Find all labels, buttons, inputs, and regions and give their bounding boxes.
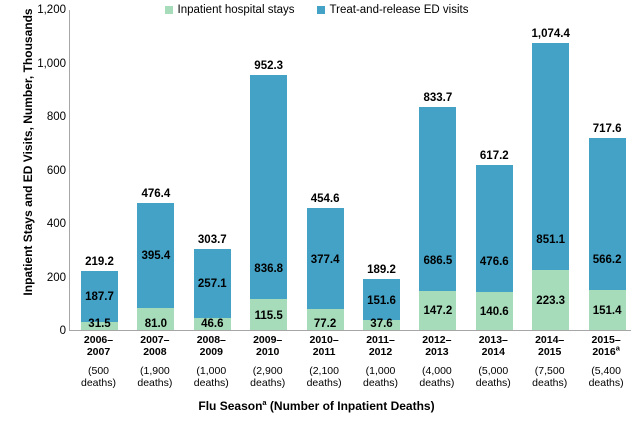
bar-segment-value: 851.1	[532, 234, 569, 246]
inpatient-deaths-unit: deaths)	[297, 377, 352, 389]
bar-segment-inpatient-stays[interactable]: 115.5	[250, 299, 287, 330]
bar-segment-value: 115.5	[250, 310, 287, 322]
y-axis-tick-label: 0	[22, 325, 66, 337]
bar-segment-inpatient-stays[interactable]: 77.2	[307, 309, 344, 330]
flu-season-label: 2011–2012	[353, 334, 408, 358]
table-row[interactable]: 566.2151.4717.6	[589, 138, 626, 330]
inpatient-deaths-count: (5,000	[466, 365, 521, 377]
bar-total-value: 476.4	[124, 188, 187, 200]
bar-segment-inpatient-stays[interactable]: 81.0	[137, 308, 174, 330]
bar-segment-ed-visits[interactable]: 851.1	[532, 43, 569, 271]
flu-season-start-year: 2012–	[409, 334, 464, 346]
inpatient-deaths-unit: deaths)	[71, 377, 126, 389]
flu-season-end-year: 2009	[184, 346, 239, 358]
inpatient-deaths-count: (1,900	[127, 365, 182, 377]
flu-season-end-year: 2007	[71, 346, 126, 358]
inpatient-deaths-count: (1,000	[184, 365, 239, 377]
inpatient-deaths-label: (2,900deaths)	[240, 365, 295, 389]
y-axis-ticks: 02004006008001,0001,200	[14, 0, 66, 421]
bar-segment-inpatient-stays[interactable]: 151.4	[589, 290, 626, 330]
flu-season-end-year-text: 2013	[425, 346, 448, 358]
flu-season-start-year: 2008–	[184, 334, 239, 346]
bar-segment-value: 151.4	[589, 305, 626, 317]
bar-segment-ed-visits[interactable]: 395.4	[137, 203, 174, 309]
inpatient-deaths-unit: deaths)	[466, 377, 521, 389]
bar-series-container: 187.731.5219.2395.481.0476.4257.146.6303…	[70, 10, 631, 330]
table-row[interactable]: 476.6140.6617.2	[476, 165, 513, 330]
y-axis-tick-label: 600	[22, 165, 66, 177]
bar-total-value: 1,074.4	[519, 28, 582, 40]
inpatient-deaths-unit: deaths)	[353, 377, 408, 389]
table-row[interactable]: 187.731.5219.2	[81, 271, 118, 330]
flu-season-end-year: 2013	[409, 346, 464, 358]
flu-season-start-year: 2009–	[240, 334, 295, 346]
inpatient-deaths-count: (2,100	[297, 365, 352, 377]
bar-segment-inpatient-stays[interactable]: 46.6	[194, 318, 231, 330]
bar-segment-value: 836.8	[250, 263, 287, 275]
inpatient-deaths-count: (2,900	[240, 365, 295, 377]
flu-season-label: 2015–2016a	[579, 334, 633, 358]
bar-segment-ed-visits[interactable]: 377.4	[307, 208, 344, 309]
bar-segment-value: 31.5	[81, 318, 118, 330]
inpatient-deaths-label: (1,900deaths)	[127, 365, 182, 389]
inpatient-deaths-label: (2,100deaths)	[297, 365, 352, 389]
table-row[interactable]: 686.5147.2833.7	[419, 107, 456, 330]
table-row[interactable]: 395.481.0476.4	[137, 203, 174, 330]
bar-segment-ed-visits[interactable]: 686.5	[419, 107, 456, 291]
inpatient-deaths-label: (1,000deaths)	[353, 365, 408, 389]
table-row[interactable]: 836.8115.5952.3	[250, 75, 287, 330]
bar-total-value: 617.2	[463, 150, 526, 162]
x-axis-category-label: 2007–2008(1,900deaths)	[127, 334, 182, 389]
bar-segment-ed-visits[interactable]: 151.6	[363, 279, 400, 320]
inpatient-deaths-count: (500	[71, 365, 126, 377]
bar-segment-ed-visits[interactable]: 187.7	[81, 271, 118, 321]
flu-season-start-year: 2007–	[127, 334, 182, 346]
inpatient-deaths-count: (5,400	[579, 365, 633, 377]
flu-season-label: 2007–2008	[127, 334, 182, 358]
bar-segment-value: 187.7	[81, 291, 118, 303]
bar-total-value: 219.2	[68, 256, 131, 268]
bar-segment-value: 151.6	[363, 295, 400, 307]
x-axis-category-label: 2010–2011(2,100deaths)	[297, 334, 352, 389]
flu-season-end-year: 2008	[127, 346, 182, 358]
bar-segment-inpatient-stays[interactable]: 140.6	[476, 292, 513, 330]
flu-season-end-year-text: 2009	[200, 346, 223, 358]
inpatient-deaths-unit: deaths)	[579, 377, 633, 389]
bar-total-value: 303.7	[181, 234, 244, 246]
inpatient-deaths-label: (5,400deaths)	[579, 365, 633, 389]
y-axis-tick-label: 400	[22, 218, 66, 230]
x-axis-category-label: 2013–2014(5,000deaths)	[466, 334, 521, 389]
bar-total-value: 717.6	[576, 123, 633, 135]
bar-segment-value: 81.0	[137, 318, 174, 330]
bar-total-value: 454.6	[294, 193, 357, 205]
bar-segment-ed-visits[interactable]: 836.8	[250, 75, 287, 299]
inpatient-deaths-label: (1,000deaths)	[184, 365, 239, 389]
flu-season-end-year-text: 2011	[313, 346, 336, 358]
flu-season-start-year: 2010–	[297, 334, 352, 346]
x-axis-categories: 2006–2007(500deaths)2007–2008(1,900death…	[69, 334, 631, 396]
inpatient-deaths-count: (4,000	[409, 365, 464, 377]
inpatient-deaths-unit: deaths)	[240, 377, 295, 389]
inpatient-deaths-label: (7,500deaths)	[522, 365, 577, 389]
y-axis-tick-label: 800	[22, 111, 66, 123]
plot-area: 187.731.5219.2395.481.0476.4257.146.6303…	[69, 10, 631, 331]
inpatient-deaths-unit: deaths)	[522, 377, 577, 389]
bar-segment-inpatient-stays[interactable]: 147.2	[419, 291, 456, 330]
flu-season-end-year: 2014	[466, 346, 521, 358]
flu-season-end-year-text: 2008	[143, 346, 166, 358]
bar-segment-inpatient-stays[interactable]: 31.5	[81, 322, 118, 330]
table-row[interactable]: 151.637.6189.2	[363, 279, 400, 330]
flu-season-end-year: 2016a	[579, 346, 633, 358]
bar-segment-value: 257.1	[194, 278, 231, 290]
bar-segment-value: 46.6	[194, 318, 231, 330]
table-row[interactable]: 851.1223.31,074.4	[532, 43, 569, 330]
inpatient-deaths-label: (4,000deaths)	[409, 365, 464, 389]
flu-season-end-year-text: 2014	[482, 346, 505, 358]
bar-segment-inpatient-stays[interactable]: 37.6	[363, 320, 400, 330]
bar-segment-value: 395.4	[137, 250, 174, 262]
y-axis-tick-label: 200	[22, 272, 66, 284]
table-row[interactable]: 377.477.2454.6	[307, 208, 344, 330]
x-axis-category-label: 2006–2007(500deaths)	[71, 334, 126, 389]
flu-season-end-year-text: 2010	[256, 346, 279, 358]
bar-segment-value: 77.2	[307, 318, 344, 330]
footnote-marker: a	[616, 344, 620, 353]
flu-season-label: 2013–2014	[466, 334, 521, 358]
flu-season-label: 2010–2011	[297, 334, 352, 358]
bar-segment-ed-visits[interactable]: 566.2	[589, 138, 626, 289]
x-axis-title-pre: Flu Season	[198, 399, 262, 413]
flu-season-start-year: 2015–	[579, 334, 633, 346]
bar-segment-ed-visits[interactable]: 257.1	[194, 249, 231, 318]
bar-segment-value: 686.5	[419, 255, 456, 267]
flu-season-end-year-text: 2016	[592, 346, 615, 358]
inpatient-deaths-count: (7,500	[522, 365, 577, 377]
inpatient-deaths-unit: deaths)	[184, 377, 239, 389]
bar-total-value: 189.2	[350, 264, 413, 276]
flu-season-end-year: 2010	[240, 346, 295, 358]
flu-season-start-year: 2011–	[353, 334, 408, 346]
bar-total-value: 952.3	[237, 60, 300, 72]
bar-segment-value: 147.2	[419, 305, 456, 317]
flu-season-start-year: 2013–	[466, 334, 521, 346]
flu-season-end-year-text: 2012	[369, 346, 392, 358]
stacked-bar-chart: Inpatient hospital staysTreat-and-releas…	[0, 0, 633, 421]
inpatient-deaths-unit: deaths)	[127, 377, 182, 389]
flu-season-end-year: 2012	[353, 346, 408, 358]
flu-season-start-year: 2014–	[522, 334, 577, 346]
flu-season-end-year: 2015	[522, 346, 577, 358]
inpatient-deaths-count: (1,000	[353, 365, 408, 377]
bar-total-value: 833.7	[406, 92, 469, 104]
bar-segment-value: 223.3	[532, 295, 569, 307]
bar-segment-value: 140.6	[476, 306, 513, 318]
bar-segment-inpatient-stays[interactable]: 223.3	[532, 270, 569, 330]
table-row[interactable]: 257.146.6303.7	[194, 249, 231, 330]
bar-segment-value: 476.6	[476, 256, 513, 268]
flu-season-start-year: 2006–	[71, 334, 126, 346]
flu-season-label: 2009–2010	[240, 334, 295, 358]
x-axis-category-label: 2008–2009(1,000deaths)	[184, 334, 239, 389]
bar-segment-value: 377.4	[307, 254, 344, 266]
x-axis-title-post: (Number of Inpatient Deaths)	[267, 399, 435, 413]
y-axis-tick-label: 1,000	[22, 58, 66, 70]
bar-segment-ed-visits[interactable]: 476.6	[476, 165, 513, 292]
flu-season-label: 2012–2013	[409, 334, 464, 358]
inpatient-deaths-unit: deaths)	[409, 377, 464, 389]
x-axis-category-label: 2015–2016a(5,400deaths)	[579, 334, 633, 389]
flu-season-end-year: 2011	[297, 346, 352, 358]
bar-segment-value: 37.6	[363, 318, 400, 330]
x-axis-category-label: 2014–2015(7,500deaths)	[522, 334, 577, 389]
x-axis-category-label: 2009–2010(2,900deaths)	[240, 334, 295, 389]
x-axis-category-label: 2012–2013(4,000deaths)	[409, 334, 464, 389]
flu-season-label: 2008–2009	[184, 334, 239, 358]
flu-season-end-year-text: 2015	[538, 346, 561, 358]
inpatient-deaths-label: (500deaths)	[71, 365, 126, 389]
flu-season-label: 2014–2015	[522, 334, 577, 358]
y-axis-tick-label: 1,200	[22, 4, 66, 16]
flu-season-end-year-text: 2007	[87, 346, 110, 358]
x-axis-category-label: 2011–2012(1,000deaths)	[353, 334, 408, 389]
inpatient-deaths-label: (5,000deaths)	[466, 365, 521, 389]
flu-season-label: 2006–2007	[71, 334, 126, 358]
bar-segment-value: 566.2	[589, 254, 626, 266]
x-axis-title: Flu Seasona (Number of Inpatient Deaths)	[0, 399, 633, 413]
